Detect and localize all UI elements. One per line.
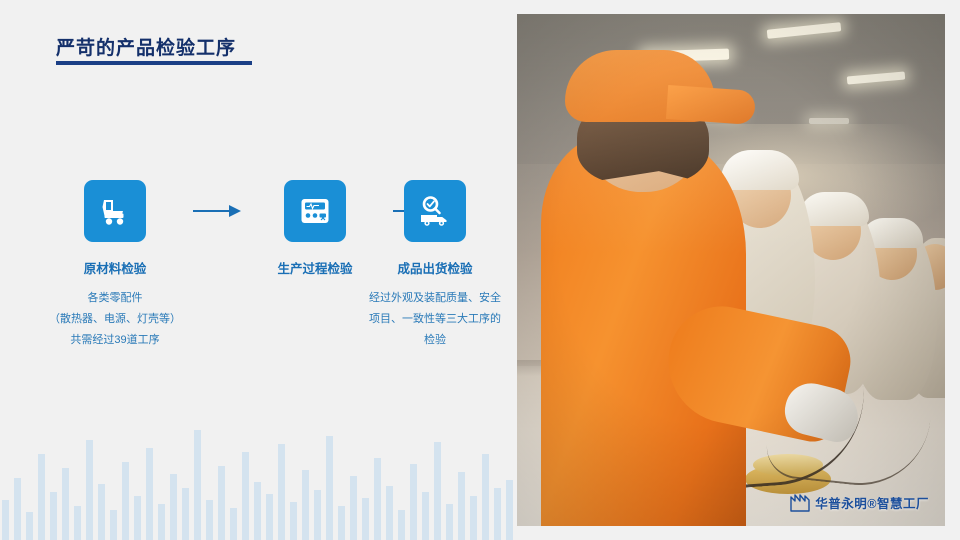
hpym-logo-icon <box>790 494 810 512</box>
flow-step-desc: 经过外观及装配质量、安全 项目、一致性等三大工序的 检验 <box>360 288 510 351</box>
logo-text: 华普永明®智慧工厂 <box>815 493 929 512</box>
orange-cap-brim <box>666 85 756 125</box>
decorative-bar <box>254 482 261 540</box>
decorative-bar <box>458 472 465 540</box>
decorative-bar <box>482 454 489 540</box>
decorative-bar <box>362 498 369 540</box>
decorative-bar <box>74 506 81 540</box>
decorative-bar <box>230 508 237 540</box>
decorative-bar <box>194 430 201 540</box>
flow-step-raw-material: 原材料检验 各类零配件 （散热器、电源、灯壳等） 共需经过39道工序 <box>40 180 190 351</box>
flow-step-label: 成品出货检验 <box>360 258 510 277</box>
decorative-bar <box>386 486 393 540</box>
decorative-bar <box>398 510 405 540</box>
decorative-bar <box>302 470 309 540</box>
flow-step-desc: 各类零配件 （散热器、电源、灯壳等） 共需经过39道工序 <box>40 288 190 351</box>
decorative-bar <box>14 478 21 540</box>
decorative-bar <box>86 440 93 540</box>
title-underline <box>56 61 252 65</box>
decorative-bar <box>26 512 33 540</box>
delivery-truck-search-icon <box>404 180 466 242</box>
decorative-bar <box>134 496 141 540</box>
decorative-bar <box>494 488 501 540</box>
decorative-bar <box>98 484 105 540</box>
decorative-bar <box>206 500 213 540</box>
decorative-bar <box>158 504 165 540</box>
flow-step-desc-line: 项目、一致性等三大工序的 <box>360 309 510 330</box>
decorative-bar <box>326 436 333 540</box>
decorative-bar <box>434 442 441 540</box>
flow-step-finished-goods: 成品出货检验 经过外观及装配质量、安全 项目、一致性等三大工序的 检验 <box>360 180 510 351</box>
decorative-bar <box>122 462 129 540</box>
decorative-bar <box>218 466 225 540</box>
decorative-bar <box>350 476 357 540</box>
factory-photo: 华普永明®智慧工厂 <box>517 14 945 526</box>
decorative-bar <box>278 444 285 540</box>
hair-net-cap <box>799 192 869 226</box>
brand-logo: 华普永明®智慧工厂 <box>790 493 929 512</box>
process-flow: 原材料检验 各类零配件 （散热器、电源、灯壳等） 共需经过39道工序 <box>40 180 510 370</box>
decorative-bar <box>506 480 513 540</box>
slide-canvas: 严苛的产品检验工序 原材料检验 各类零配件 （散热器、电源、灯壳等） 共需经过3… <box>0 0 960 540</box>
decorative-bar <box>110 510 117 540</box>
decorative-bar <box>338 506 345 540</box>
flow-step-desc-line: 检验 <box>360 330 510 351</box>
flow-step-label: 原材料检验 <box>40 258 190 277</box>
dump-truck-icon <box>84 180 146 242</box>
decorative-bar <box>422 492 429 540</box>
flow-step-desc-line: 共需经过39道工序 <box>40 330 190 351</box>
photo-illustration <box>517 14 945 526</box>
decorative-bar <box>38 454 45 540</box>
decorative-bar <box>242 452 249 540</box>
decorative-bar <box>314 490 321 540</box>
test-instrument-icon <box>284 180 346 242</box>
decorative-bar <box>446 504 453 540</box>
flow-step-desc-line: 各类零配件 <box>40 288 190 309</box>
decorative-bar <box>50 492 57 540</box>
page-title: 严苛的产品检验工序 <box>56 33 236 60</box>
decorative-bar <box>266 494 273 540</box>
flow-step-desc-line: 经过外观及装配质量、安全 <box>360 288 510 309</box>
decorative-bar <box>2 500 9 540</box>
decorative-bar <box>470 496 477 540</box>
decorative-bar <box>170 474 177 540</box>
decorative-bar <box>290 502 297 540</box>
decorative-bar <box>146 448 153 540</box>
decorative-bar <box>410 464 417 540</box>
decorative-bar <box>374 458 381 540</box>
hair-net-cap <box>721 150 799 190</box>
decorative-bar <box>182 488 189 540</box>
arrow-right-icon <box>191 202 243 220</box>
decorative-bar <box>62 468 69 540</box>
decorative-bar-field <box>0 390 520 540</box>
flow-step-desc-line: （散热器、电源、灯壳等） <box>40 309 190 330</box>
